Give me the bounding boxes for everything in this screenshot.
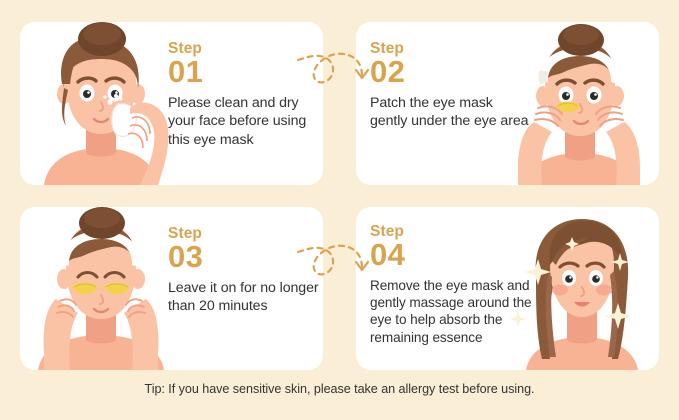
step-card-3: 20 min Step 03 Leave it on for no longer… (20, 207, 323, 370)
step-3-number: 03 (168, 241, 320, 273)
step-4-illustration (502, 207, 657, 370)
step-3-illustration (26, 207, 176, 370)
step-2-illustration (502, 22, 657, 185)
step-3-description: Leave it on for no longer than 20 minute… (168, 279, 320, 316)
footer-tip: Tip: If you have sensitive skin, please … (0, 382, 679, 396)
step-1-text: Step 01 Please clean and dry your face b… (168, 41, 320, 149)
instruction-board: Step 01 Please clean and dry your face b… (0, 0, 679, 420)
step-1-illustration (26, 22, 176, 185)
step-card-4: Step 04 Remove the eye mask and gently m… (356, 207, 659, 370)
step-3-text: Step 03 Leave it on for no longer than 2… (168, 226, 320, 316)
step-card-1: Step 01 Please clean and dry your face b… (20, 22, 323, 185)
step-1-number: 01 (168, 56, 320, 88)
step-1-description: Please clean and dry your face before us… (168, 94, 320, 149)
step-card-2: Step 02 Patch the eye mask gently under … (356, 22, 659, 185)
